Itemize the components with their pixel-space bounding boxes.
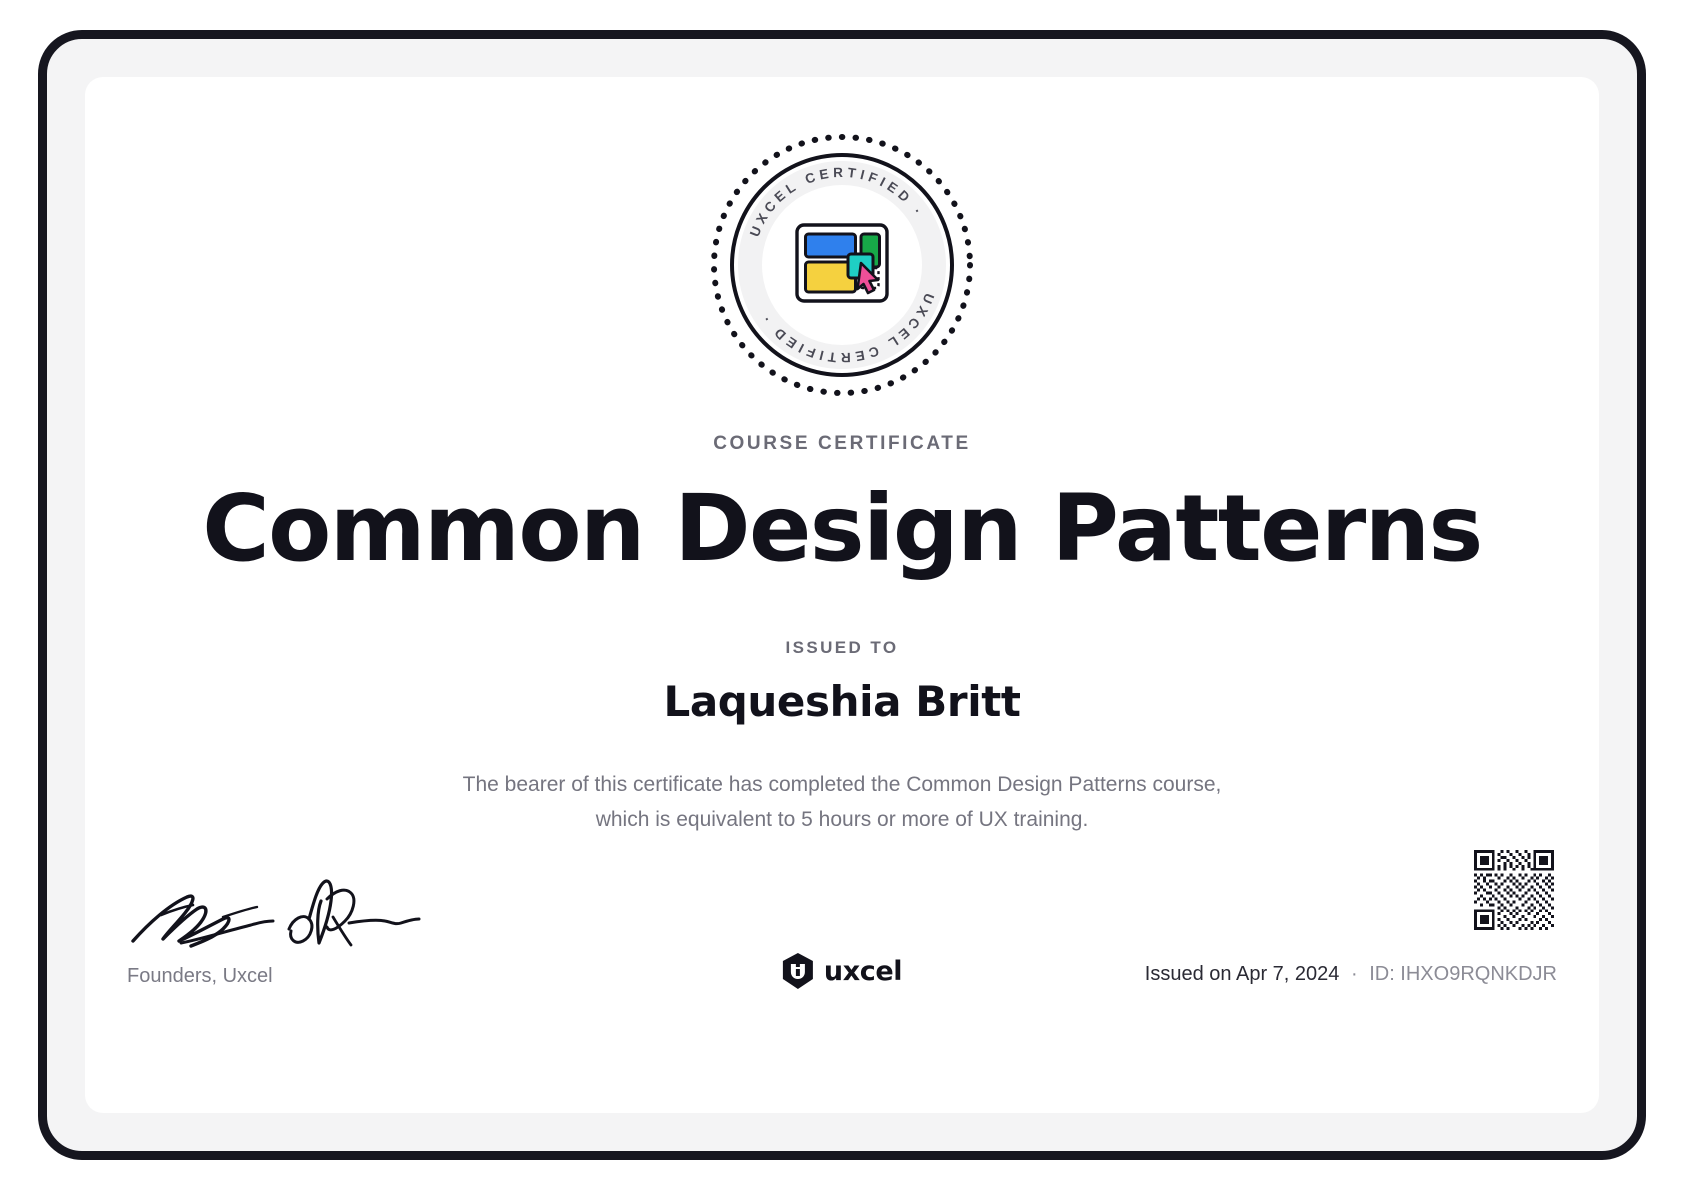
certificate-id: ID: IHXO9RQNKDJR (1369, 963, 1557, 985)
icon-blue-block (806, 234, 856, 257)
certificate-type-label: COURSE CERTIFICATE (85, 433, 1599, 455)
signature-block (127, 857, 427, 947)
founder-signature-one (133, 896, 273, 946)
issue-separator: · (1345, 963, 1364, 985)
certificate-description: The bearer of this certificate has compl… (462, 767, 1222, 837)
design-patterns-icon (797, 225, 887, 301)
brand-lockup: uxcel (782, 953, 902, 989)
recipient-name: Laqueshia Britt (85, 677, 1599, 726)
brand-name: uxcel (824, 956, 902, 987)
course-title: Common Design Patterns (85, 477, 1599, 581)
uxcel-hex-logo-icon (782, 953, 814, 989)
seal-graphic: UXCEL CERTIFIED · UXCEL CERTIFIED · (708, 131, 976, 399)
signatures-graphic (127, 857, 427, 949)
certificate-card: UXCEL CERTIFIED · UXCEL CERTIFIED · (85, 77, 1599, 1113)
issued-to-label: ISSUED TO (85, 638, 1599, 658)
certificate-qr-code[interactable] (1471, 847, 1557, 933)
issue-info: Issued on Apr 7, 2024 · ID: IHXO9RQNKDJR (1145, 963, 1557, 986)
issue-date: Issued on Apr 7, 2024 (1145, 963, 1340, 985)
certified-seal: UXCEL CERTIFIED · UXCEL CERTIFIED · (708, 131, 976, 399)
certificate-frame: UXCEL CERTIFIED · UXCEL CERTIFIED · (38, 30, 1646, 1160)
qr-code-graphic (1471, 847, 1557, 933)
founders-label: Founders, Uxcel (127, 965, 273, 988)
founder-signature-two (289, 881, 419, 945)
